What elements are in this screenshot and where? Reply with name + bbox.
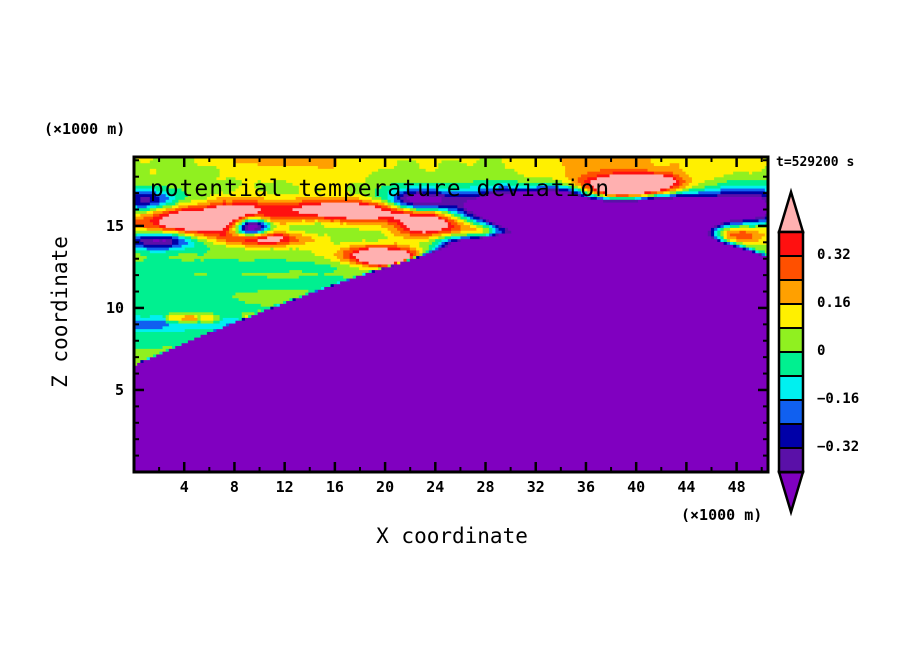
- x-tick-label: 20: [373, 478, 397, 496]
- y-axis-unit-label: (×1000 m): [44, 120, 125, 138]
- contour-field: [134, 157, 769, 473]
- x-tick-label: 48: [725, 478, 749, 496]
- x-tick-label: 8: [222, 478, 246, 496]
- colorbar: [779, 192, 803, 512]
- x-tick-label: 16: [323, 478, 347, 496]
- x-tick-label: 36: [574, 478, 598, 496]
- colorbar-tick-label: −0.32: [817, 439, 859, 455]
- x-tick-label: 40: [624, 478, 648, 496]
- x-tick-label: 24: [423, 478, 447, 496]
- time-annotation: t=529200 s: [776, 155, 854, 170]
- colorbar-tick-label: −0.16: [817, 391, 859, 407]
- x-tick-label: 12: [273, 478, 297, 496]
- colorbar-tick-label: 0: [817, 343, 825, 359]
- x-tick-label: 28: [474, 478, 498, 496]
- y-tick-label: 15: [90, 217, 124, 235]
- colorbar-tick-label: 0.32: [817, 247, 851, 263]
- x-axis-title-text: X coordinate: [376, 524, 528, 548]
- y-axis-title: Z coordinate: [48, 202, 72, 422]
- colorbar-tick-label: 0.16: [817, 295, 851, 311]
- contour-figure: [0, 0, 904, 654]
- x-axis-title: X coordinate: [0, 524, 904, 548]
- y-tick-label: 5: [90, 381, 124, 399]
- x-tick-label: 32: [524, 478, 548, 496]
- x-tick-label: 44: [674, 478, 698, 496]
- x-tick-label: 4: [172, 478, 196, 496]
- x-axis-unit-label: (×1000 m): [681, 506, 762, 524]
- y-tick-label: 10: [90, 299, 124, 317]
- figure-title-text: potential temperature deviation: [0, 176, 760, 202]
